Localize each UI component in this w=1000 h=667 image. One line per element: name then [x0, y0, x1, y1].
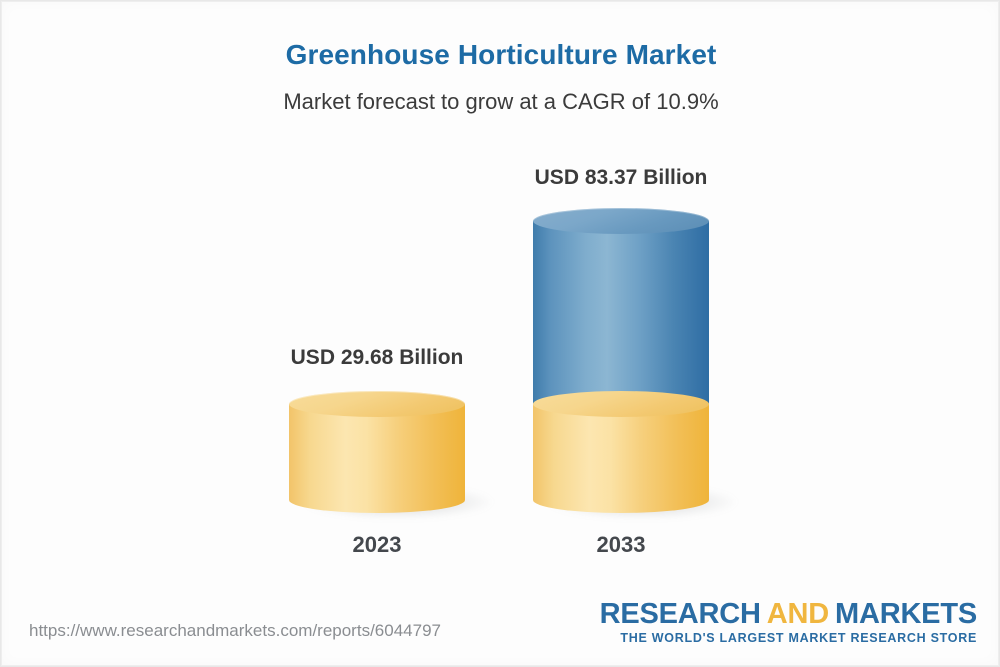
bar-top-cap-2033	[533, 208, 709, 234]
bar-body-2033	[533, 221, 709, 500]
bar-value-label-2033: USD 83.37 Billion	[533, 166, 709, 190]
bar-body-2023	[289, 404, 465, 500]
bar-value-label-2023: USD 29.68 Billion	[289, 346, 465, 370]
logo-word-research: RESEARCH	[600, 598, 761, 630]
bar-category-label-2033: 2033	[533, 532, 709, 558]
bar-bottom-cap-2023	[289, 487, 465, 513]
bar-category-label-2023: 2023	[289, 532, 465, 558]
bar-chart: USD 29.68 Billion 2023 USD 83.37 Billion…	[1, 1, 1000, 601]
bar-cylinder-2023	[289, 391, 465, 513]
bar-segment-blue-2033	[533, 221, 709, 404]
bar-divider-cap-2033	[533, 391, 709, 417]
market-forecast-infographic: Greenhouse Horticulture Market Market fo…	[0, 0, 1000, 667]
bar-segment-yellow-2023	[289, 404, 465, 500]
logo-wordmark: RESEARCHANDMARKETS	[600, 599, 977, 629]
research-and-markets-logo[interactable]: RESEARCHANDMARKETS THE WORLD'S LARGEST M…	[600, 599, 977, 645]
logo-word-markets: MARKETS	[835, 598, 977, 630]
logo-tagline: THE WORLD'S LARGEST MARKET RESEARCH STOR…	[600, 631, 977, 645]
report-url[interactable]: https://www.researchandmarkets.com/repor…	[29, 621, 441, 641]
bar-bottom-cap-2033	[533, 487, 709, 513]
bar-cylinder-2033	[533, 208, 709, 513]
logo-word-and: AND	[767, 598, 829, 630]
bar-segment-yellow-2033	[533, 404, 709, 500]
bar-top-cap-2023	[289, 391, 465, 417]
